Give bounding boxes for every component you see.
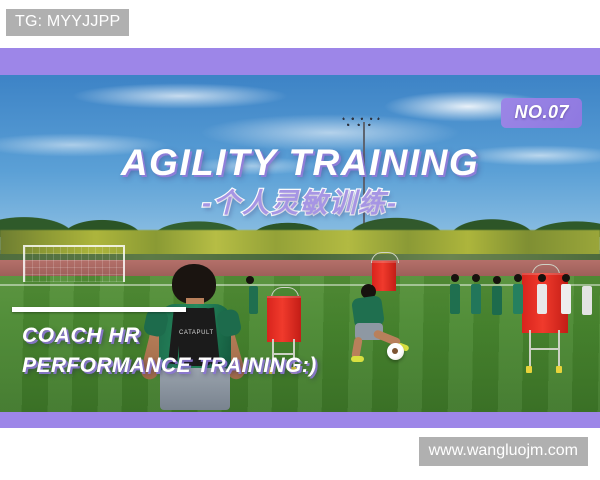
pitch-sideline	[0, 284, 600, 286]
coach-credit-block: COACH HR PERFORMANCE TRAINING:)	[22, 321, 317, 381]
poster-image: CATAPULT NO.07 AGILITY TRAINING -个人灵敏训练-…	[0, 75, 600, 412]
barrier-rung	[529, 348, 559, 350]
goal-net	[25, 247, 123, 282]
distant-player-head	[514, 274, 522, 282]
poster-subtitle: -个人灵敏训练-	[0, 187, 600, 219]
distant-player-head	[538, 274, 546, 282]
telegram-handle-badge: TG: MYYJJPP	[6, 9, 129, 36]
goal-frame	[23, 245, 125, 282]
distant-player-head	[562, 274, 570, 282]
barrier-leg	[529, 330, 531, 370]
soccer-ball	[387, 343, 404, 360]
distant-player-head	[472, 274, 480, 282]
coach-name: COACH HR	[22, 321, 317, 351]
distant-player-head	[493, 276, 501, 284]
distant-player	[561, 284, 571, 314]
distant-player	[471, 284, 481, 314]
coach-divider-rule	[12, 307, 186, 312]
coach-tagline: PERFORMANCE TRAINING:)	[22, 351, 317, 381]
site-watermark: www.wangluojm.com	[419, 437, 588, 466]
barrier-foot	[526, 366, 532, 373]
floodlight-head-icon	[338, 114, 384, 130]
episode-number-badge: NO.07	[501, 98, 582, 128]
barrier-foot	[556, 366, 562, 373]
barrier-leg	[558, 330, 560, 370]
poster-frame: CATAPULT NO.07 AGILITY TRAINING -个人灵敏训练-…	[0, 48, 600, 428]
distant-player	[492, 286, 502, 315]
distant-player-head	[451, 274, 459, 282]
distant-player	[513, 284, 523, 314]
distant-player	[450, 284, 460, 314]
poster-title: AGILITY TRAINING	[0, 143, 600, 183]
distant-player	[582, 286, 592, 315]
player-boot	[351, 356, 364, 362]
distant-player	[537, 284, 547, 314]
